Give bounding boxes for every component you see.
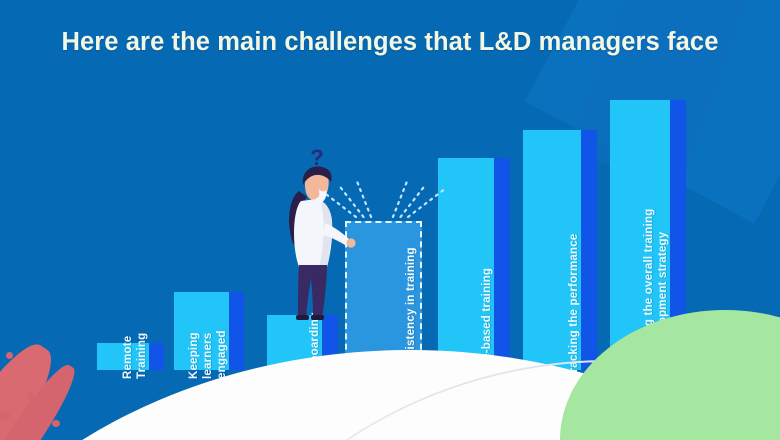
bar-side-face [670,100,686,370]
bar-4: Consistency in training [345,221,418,370]
bar-front-face [267,315,322,370]
bar-front-face [438,158,494,370]
bar-5: Role-based training [438,158,510,370]
bar-1: Remote Training [97,343,164,370]
bar-chart: Remote TrainingKeeping learners engagedO… [0,0,780,440]
bar-2: Keeping learners engaged [174,292,244,370]
bar-front-face [523,130,581,370]
bar-6: Tracking the performance [523,130,597,370]
bar-7: Evaluating the overall training and deve… [610,100,686,370]
bar-side-face [322,315,338,370]
bar-3: Onboarding [267,315,338,370]
bar-side-face [494,158,510,370]
svg-text:?: ? [310,145,323,170]
bar-front-face [97,343,149,370]
bar-front-face [174,292,229,370]
bar-side-face [229,292,244,370]
infographic-slide: Here are the main challenges that L&D ma… [0,0,780,440]
bar-side-face [581,130,597,370]
bar-side-face [149,343,164,370]
sparkle-burst-icon [317,159,447,225]
bar-front-face [610,100,670,370]
bar-front-face [345,221,422,370]
